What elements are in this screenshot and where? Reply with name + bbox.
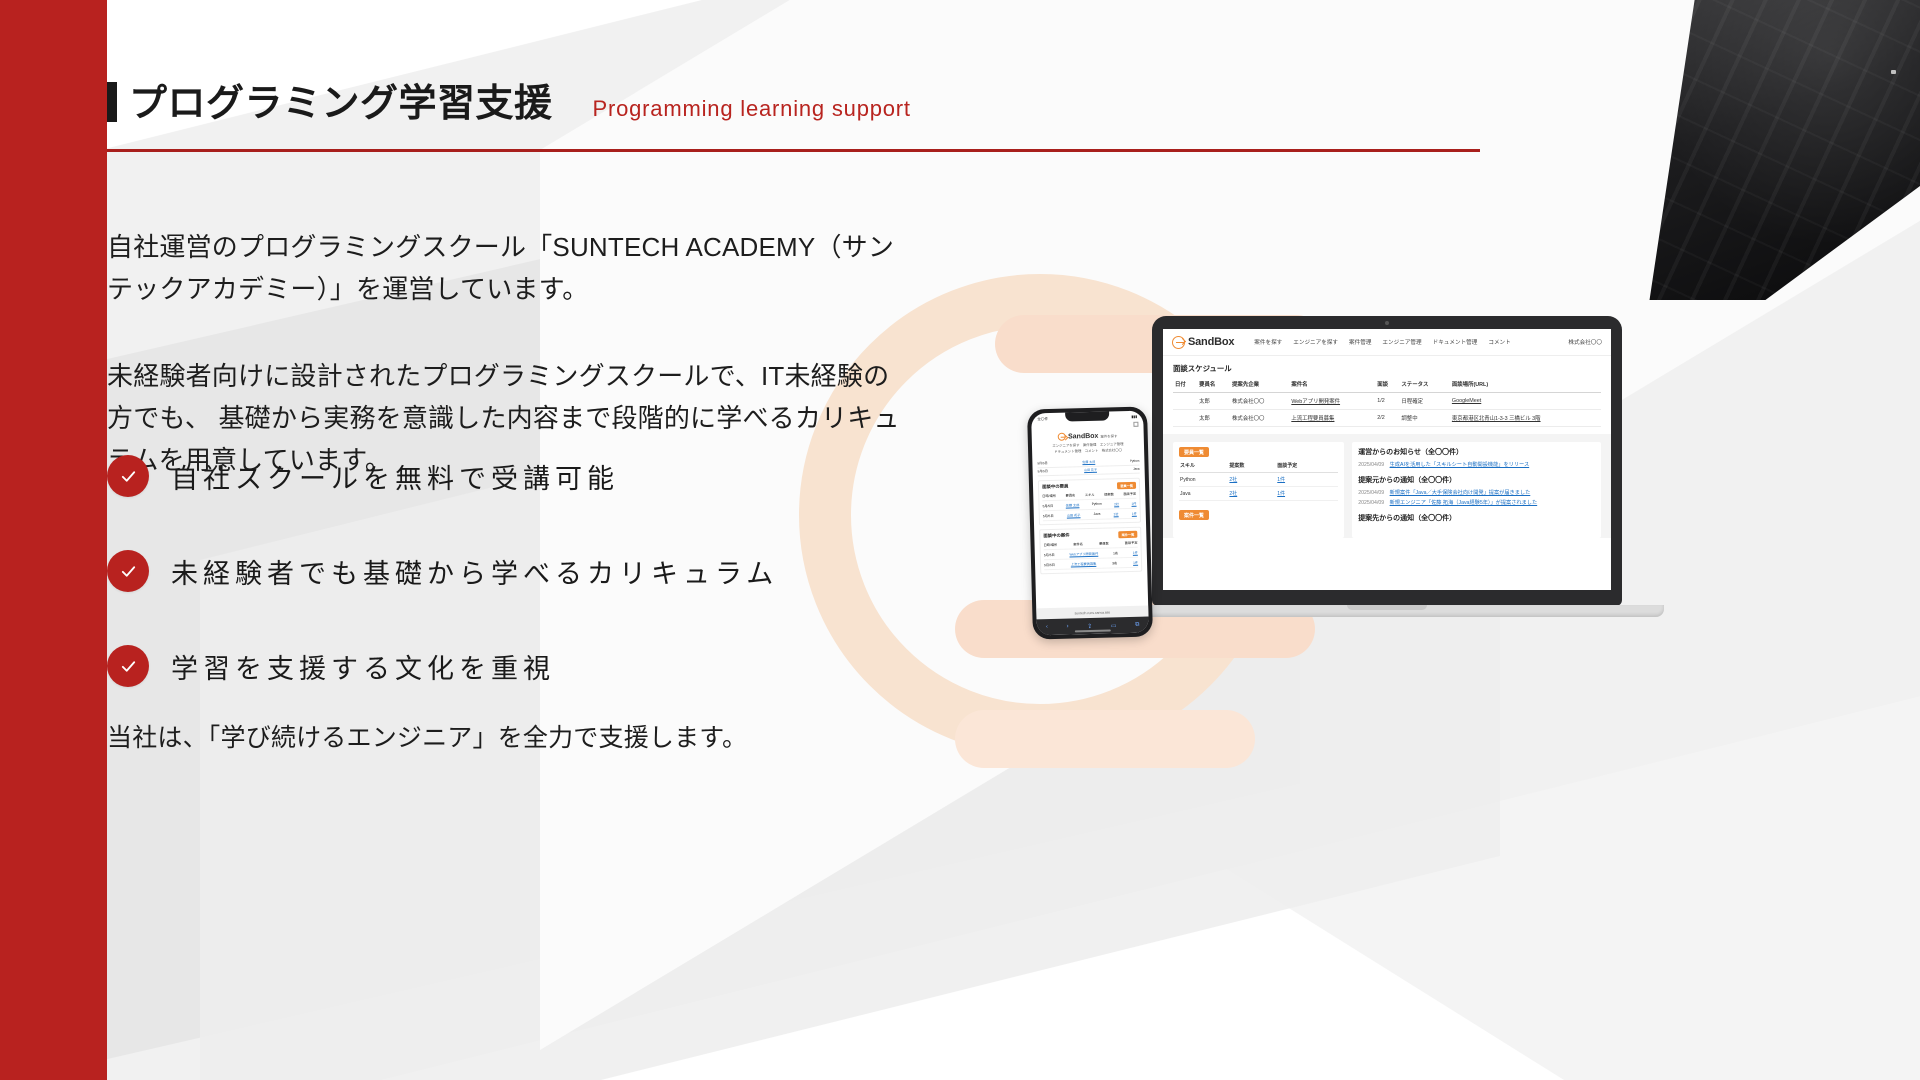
phone-member-card: 面談中の要員 要員一覧 日時/場所 要員名 スキル 提案数 面談予定 5月/5日…: [1038, 478, 1141, 526]
col-datetime: 日時/場所: [1042, 493, 1056, 498]
table-row: Java 2社 1件: [1179, 487, 1338, 501]
table-header-row: スキル 提案数 面談予定: [1179, 462, 1338, 473]
phone-browser-toolbar: ‹ › ⇪ ▭ ⧉: [1037, 617, 1149, 636]
notice-block-operations: 運営からのお知らせ（全〇〇件） 2025/04/09 生成AIを活用した「スキル…: [1358, 447, 1595, 468]
title-row: プログラミング学習支援 Programming learning support: [107, 76, 911, 123]
cell-interview-plan[interactable]: 1件: [1276, 473, 1338, 487]
phone-notch: [1065, 411, 1109, 421]
cell-date: 5月/5日: [1038, 470, 1048, 474]
notice-date: 2025/04/09: [1358, 462, 1384, 468]
cell-proposals[interactable]: 2社: [1228, 487, 1276, 501]
cell-interview: 1/2: [1375, 393, 1399, 410]
cell-skill: Java: [1094, 512, 1101, 517]
col-proposals: 提案数: [1228, 462, 1276, 473]
cell-datetime: 5月/5日: [1044, 562, 1055, 567]
back-icon[interactable]: ‹: [1046, 624, 1048, 630]
cell-skill: Python: [1179, 473, 1228, 487]
col-datetime: 日時/場所: [1043, 542, 1057, 547]
phone-case-card: 面談中の案件 案件一覧 日時/場所 案件名 要員数 面談予定 5月/5日 Web…: [1039, 527, 1142, 575]
notice-row: 2025/04/09 新規エンジニア「佐藤 拓海（Java経験5年）」が提案され…: [1358, 499, 1595, 506]
schedule-title: 面談スケジュール: [1173, 363, 1601, 374]
phone-mockup: 全〇件 ▮▮▮ SandBox 案件を探す エンジニアを探す 案件管理 エンジニ…: [1027, 406, 1153, 639]
cell-name[interactable]: 山田 花子: [1084, 468, 1097, 472]
cell-date: 5月/5日: [1037, 462, 1047, 466]
col-proposals: 提案数: [1104, 491, 1114, 496]
cell-date: [1173, 410, 1197, 427]
cell-proposals[interactable]: 2社: [1114, 511, 1119, 516]
case-list-tag[interactable]: 案件一覧: [1118, 531, 1137, 538]
device-mockups: SandBox 案件を探す エンジニアを探す 案件管理 エンジニア管理 ドキュメ…: [1030, 300, 1730, 720]
member-panel: 要員一覧 スキル 提案数 面談予定: [1173, 442, 1344, 538]
notice-title: 運営からのお知らせ（全〇〇件）: [1358, 447, 1595, 457]
sandbox-web-app: SandBox 案件を探す エンジニアを探す 案件管理 エンジニア管理 ドキュメ…: [1163, 329, 1611, 590]
cell-datetime: 5月/5日: [1042, 503, 1053, 508]
paragraph-closing: 当社は、「学び続けるエンジニア」を全力で支援します。: [107, 718, 907, 759]
notice-row: 2025/04/09 生成AIを活用した「スキルシート自動開設機能」をリリース: [1358, 461, 1595, 468]
member-list-tag[interactable]: 要員一覧: [1179, 447, 1209, 457]
laptop-base-notch: [1347, 605, 1427, 610]
sandbox-logo-icon: [1172, 336, 1185, 349]
notice-link[interactable]: 生成AIを活用した「スキルシート自動開設機能」をリリース: [1390, 462, 1530, 468]
col-company: 提案先企業: [1230, 380, 1289, 393]
notice-date: 2025/04/09: [1358, 490, 1384, 496]
brand-subtitle: 案件を探す: [1100, 433, 1117, 438]
cell-date: [1173, 393, 1197, 410]
table-row: Python 2社 1件: [1179, 473, 1338, 487]
cell-name[interactable]: 佐藤 太郎: [1082, 460, 1095, 464]
bullet-label: 未経験者でも基礎から学べるカリキュラム: [171, 552, 778, 591]
cell-interview-plan[interactable]: 1件: [1133, 560, 1138, 565]
notice-date: 2025/04/09: [1358, 500, 1384, 506]
notice-link[interactable]: 新規案件「Java／大手保険会社向け開発」提案が届きました: [1390, 490, 1531, 496]
case-list-tag[interactable]: 案件一覧: [1179, 510, 1209, 520]
cell-case[interactable]: 上流工程要員募集: [1071, 561, 1097, 567]
paragraph-intro: 自社運営のプログラミングスクール「SUNTECH ACADEMY（サンテックアカ…: [107, 226, 907, 310]
cell-interview-plan[interactable]: 1件: [1133, 550, 1138, 555]
col-status: ステータス: [1399, 380, 1449, 393]
slide-header: プログラミング学習支援 Programming learning support: [107, 0, 1920, 160]
schedule-section: 面談スケジュール 日付 要員名 提案先企業 案件名 面談: [1163, 356, 1611, 427]
cell-members: 3名: [1112, 560, 1117, 565]
table-header-row: 日付 要員名 提案先企業 案件名 面談 ステータス 面談場所(URL): [1173, 380, 1601, 393]
cell-interview-plan[interactable]: 1件: [1131, 501, 1136, 506]
col-case: 案件名: [1289, 380, 1375, 393]
cell-location-link[interactable]: 東京都港区北青山1-3-3 三橋ビル 3階: [1450, 410, 1601, 427]
cell-skill: Python: [1130, 459, 1139, 463]
phone-screen: 全〇件 ▮▮▮ SandBox 案件を探す エンジニアを探す 案件管理 エンジニ…: [1031, 411, 1149, 636]
list-item: 未経験者でも基礎から学べるカリキュラム: [107, 550, 778, 592]
notice-block-proposer: 提案元からの通知（全〇〇件） 2025/04/09 新規案件「Java／大手保険…: [1358, 475, 1595, 506]
nav-item-case-management[interactable]: 案件管理: [1349, 338, 1371, 346]
cell-interview: 2/2: [1375, 410, 1399, 427]
cell-skill: Java: [1133, 467, 1139, 471]
notice-title: 提案先からの通知（全〇〇件）: [1358, 513, 1595, 523]
col-name: 要員名: [1066, 492, 1076, 497]
col-case: 案件名: [1073, 541, 1083, 546]
col-skill: スキル: [1179, 462, 1228, 473]
title-accent-bar-icon: [107, 82, 117, 122]
notice-link[interactable]: 新規エンジニア「佐藤 拓海（Java経験5年）」が提案されました: [1390, 500, 1538, 506]
phone-schedule-table: 5月/5日 佐藤 太郎 Python 5月/5日 山田 花子 Java: [1037, 458, 1139, 477]
col-members: 要員数: [1099, 540, 1109, 545]
member-list-tag[interactable]: 要員一覧: [1117, 482, 1136, 489]
cell-datetime: 5月/5日: [1044, 552, 1055, 557]
cell-name[interactable]: 佐藤 太郎: [1066, 502, 1080, 507]
member-table: スキル 提案数 面談予定 Python 2社: [1179, 462, 1338, 501]
cell-case-link[interactable]: 上流工程要員募集: [1289, 410, 1375, 427]
table-row: 5月/5日 山田 花子 Java 2社 1件: [1043, 509, 1137, 521]
nav-item-engineer-management[interactable]: エンジニア管理: [1382, 338, 1421, 346]
cell-datetime: 5月/5日: [1043, 513, 1054, 518]
cell-member: 太郎: [1197, 410, 1230, 427]
col-interview-plan: 面談予定: [1123, 491, 1136, 496]
col-date: 日付: [1173, 380, 1197, 393]
check-icon: [107, 645, 149, 687]
cell-members: 1名: [1113, 550, 1118, 555]
cell-skill: Python: [1092, 502, 1102, 507]
page-subtitle: Programming learning support: [593, 96, 911, 122]
cell-company: 株式会社〇〇: [1230, 410, 1289, 427]
bullet-label: 自社スクールを無料で受講可能: [171, 457, 619, 496]
left-accent-bar: [0, 0, 107, 1080]
cell-interview-plan[interactable]: 1件: [1276, 487, 1338, 501]
cell-interview-plan[interactable]: 1件: [1132, 511, 1137, 516]
brand-name: SandBox: [1188, 336, 1234, 348]
laptop-screen: SandBox 案件を探す エンジニアを探す 案件管理 エンジニア管理 ドキュメ…: [1163, 329, 1611, 590]
home-indicator: [1075, 629, 1111, 632]
hamburger-menu-icon[interactable]: [1133, 422, 1138, 427]
cell-company: 株式会社〇〇: [1230, 393, 1289, 410]
phone-status-left: 全〇件: [1037, 417, 1048, 422]
app-navbar: SandBox 案件を探す エンジニアを探す 案件管理 エンジニア管理 ドキュメ…: [1163, 329, 1611, 356]
app-lower-area: 要員一覧 スキル 提案数 面談予定: [1163, 434, 1611, 538]
app-nav-links: 案件を探す エンジニアを探す 案件管理 エンジニア管理 ドキュメント管理 コメン…: [1254, 338, 1510, 346]
notice-title: 提案元からの通知（全〇〇件）: [1358, 475, 1595, 485]
header-divider: [107, 149, 1480, 152]
col-interview: 面談: [1375, 380, 1399, 393]
sandbox-logo-icon: [1058, 433, 1066, 441]
tabs-icon[interactable]: ⧉: [1135, 621, 1139, 628]
cell-status: 調整中: [1399, 410, 1449, 427]
col-location: 面談場所(URL): [1450, 380, 1601, 393]
laptop-body: SandBox 案件を探す エンジニアを探す 案件管理 エンジニア管理 ドキュメ…: [1152, 316, 1622, 606]
forward-icon[interactable]: ›: [1067, 624, 1069, 630]
app-logo: SandBox: [1172, 336, 1234, 349]
schedule-table: 日付 要員名 提案先企業 案件名 面談 ステータス 面談場所(URL): [1173, 380, 1601, 427]
cell-location-link[interactable]: GoogleMeet: [1450, 393, 1601, 410]
phone-url: suntech.runs.canva.site: [1074, 610, 1110, 615]
table-row: 太郎 株式会社〇〇 Webアプリ開発案件 1/2 日程確定 GoogleMeet: [1173, 393, 1601, 410]
bullet-label: 学習を支援する文化を重視: [171, 647, 555, 686]
phone-nav-links: エンジニアを探す 案件管理 エンジニア管理 ドキュメント管理 コメント 株式会社…: [1032, 441, 1144, 457]
laptop-camera-icon: [1385, 321, 1389, 325]
phone-signal-icon: ▮▮▮: [1131, 415, 1137, 419]
cell-skill: Java: [1179, 487, 1228, 501]
cell-name[interactable]: 山田 花子: [1067, 512, 1081, 517]
bookmarks-icon[interactable]: ▭: [1111, 622, 1117, 629]
table-row: 5月/5日 山田 花子 Java: [1038, 466, 1140, 477]
notice-row: 2025/04/09 新規案件「Java／大手保険会社向け開発」提案が届きました: [1358, 489, 1595, 496]
nav-item-document-management[interactable]: ドキュメント管理: [1433, 338, 1478, 346]
col-interview-plan: 面談予定: [1276, 462, 1338, 473]
notice-block-client: 提案先からの通知（全〇〇件）: [1358, 513, 1595, 523]
laptop-mockup: SandBox 案件を探す エンジニアを探す 案件管理 エンジニア管理 ドキュメ…: [1152, 316, 1622, 606]
cell-member: 太郎: [1197, 393, 1230, 410]
check-icon: [107, 455, 149, 497]
account-label[interactable]: 株式会社〇〇: [1568, 338, 1602, 346]
list-item: 学習を支援する文化を重視: [107, 645, 555, 687]
page-title: プログラミング学習支援: [129, 85, 553, 123]
card-title: 面談中の案件: [1043, 533, 1070, 540]
cell-case[interactable]: Webアプリ開発案件: [1069, 551, 1098, 557]
card-title: 面談中の要員: [1042, 484, 1069, 491]
cell-status: 日程確定: [1399, 393, 1449, 410]
brand-name: SandBox: [1068, 432, 1099, 440]
col-member: 要員名: [1197, 380, 1230, 393]
nav-item-search-cases[interactable]: 案件を探す: [1254, 338, 1282, 346]
check-icon: [107, 550, 149, 592]
list-item: 自社スクールを無料で受講可能: [107, 455, 619, 497]
table-row: 5月/5日 上流工程要員募集 3名 1件: [1044, 558, 1138, 570]
cell-proposals[interactable]: 2社: [1114, 501, 1119, 506]
slide-root: プログラミング学習支援 Programming learning support…: [0, 0, 1920, 1080]
cell-case-link[interactable]: Webアプリ開発案件: [1289, 393, 1375, 410]
nav-item-search-engineers[interactable]: エンジニアを探す: [1293, 338, 1338, 346]
col-skill: スキル: [1085, 492, 1095, 497]
table-row: 太郎 株式会社〇〇 上流工程要員募集 2/2 調整中 東京都港区北青山1-3-3…: [1173, 410, 1601, 427]
notice-panel: 運営からのお知らせ（全〇〇件） 2025/04/09 生成AIを活用した「スキル…: [1352, 442, 1601, 538]
col-interview-plan: 面談予定: [1125, 540, 1138, 545]
nav-item-comment[interactable]: コメント: [1488, 338, 1510, 346]
cell-proposals[interactable]: 2社: [1228, 473, 1276, 487]
